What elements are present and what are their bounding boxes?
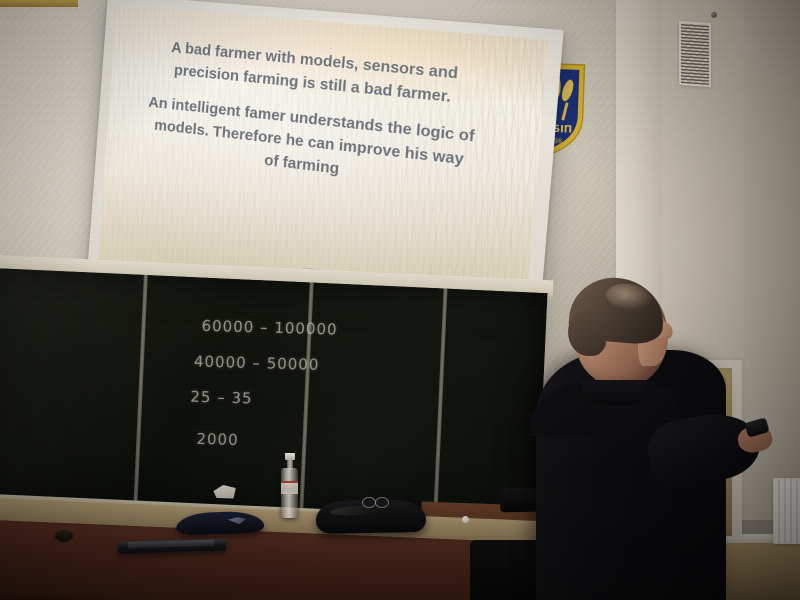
lecture-hall-photo: НУБІП 1898 A bad farmer with models, sen… (0, 0, 800, 600)
blackboard-sheen (0, 268, 547, 525)
bottle-label (281, 481, 298, 494)
chalk-line-4: 2000 (196, 430, 239, 449)
bottle-cap (285, 453, 295, 460)
presenter (520, 276, 800, 600)
ventilation-grille-icon (679, 21, 711, 87)
eyeglasses-left-lens (362, 497, 376, 508)
presenter-hair-side (568, 310, 606, 356)
ceiling-trim (0, 0, 78, 7)
presenter-collar (582, 380, 646, 406)
desk-knob (55, 530, 73, 542)
wall-screw (711, 12, 717, 18)
chalk-line-2: 40000 – 50000 (194, 352, 320, 373)
eyeglasses-right-lens (375, 497, 389, 508)
chalk-line-1: 60000 – 100000 (201, 317, 337, 339)
small-white-object (462, 516, 469, 523)
chalk-line-3: 25 – 35 (190, 388, 253, 408)
blackboard: 60000 – 100000 40000 – 50000 25 – 35 200… (0, 268, 547, 525)
